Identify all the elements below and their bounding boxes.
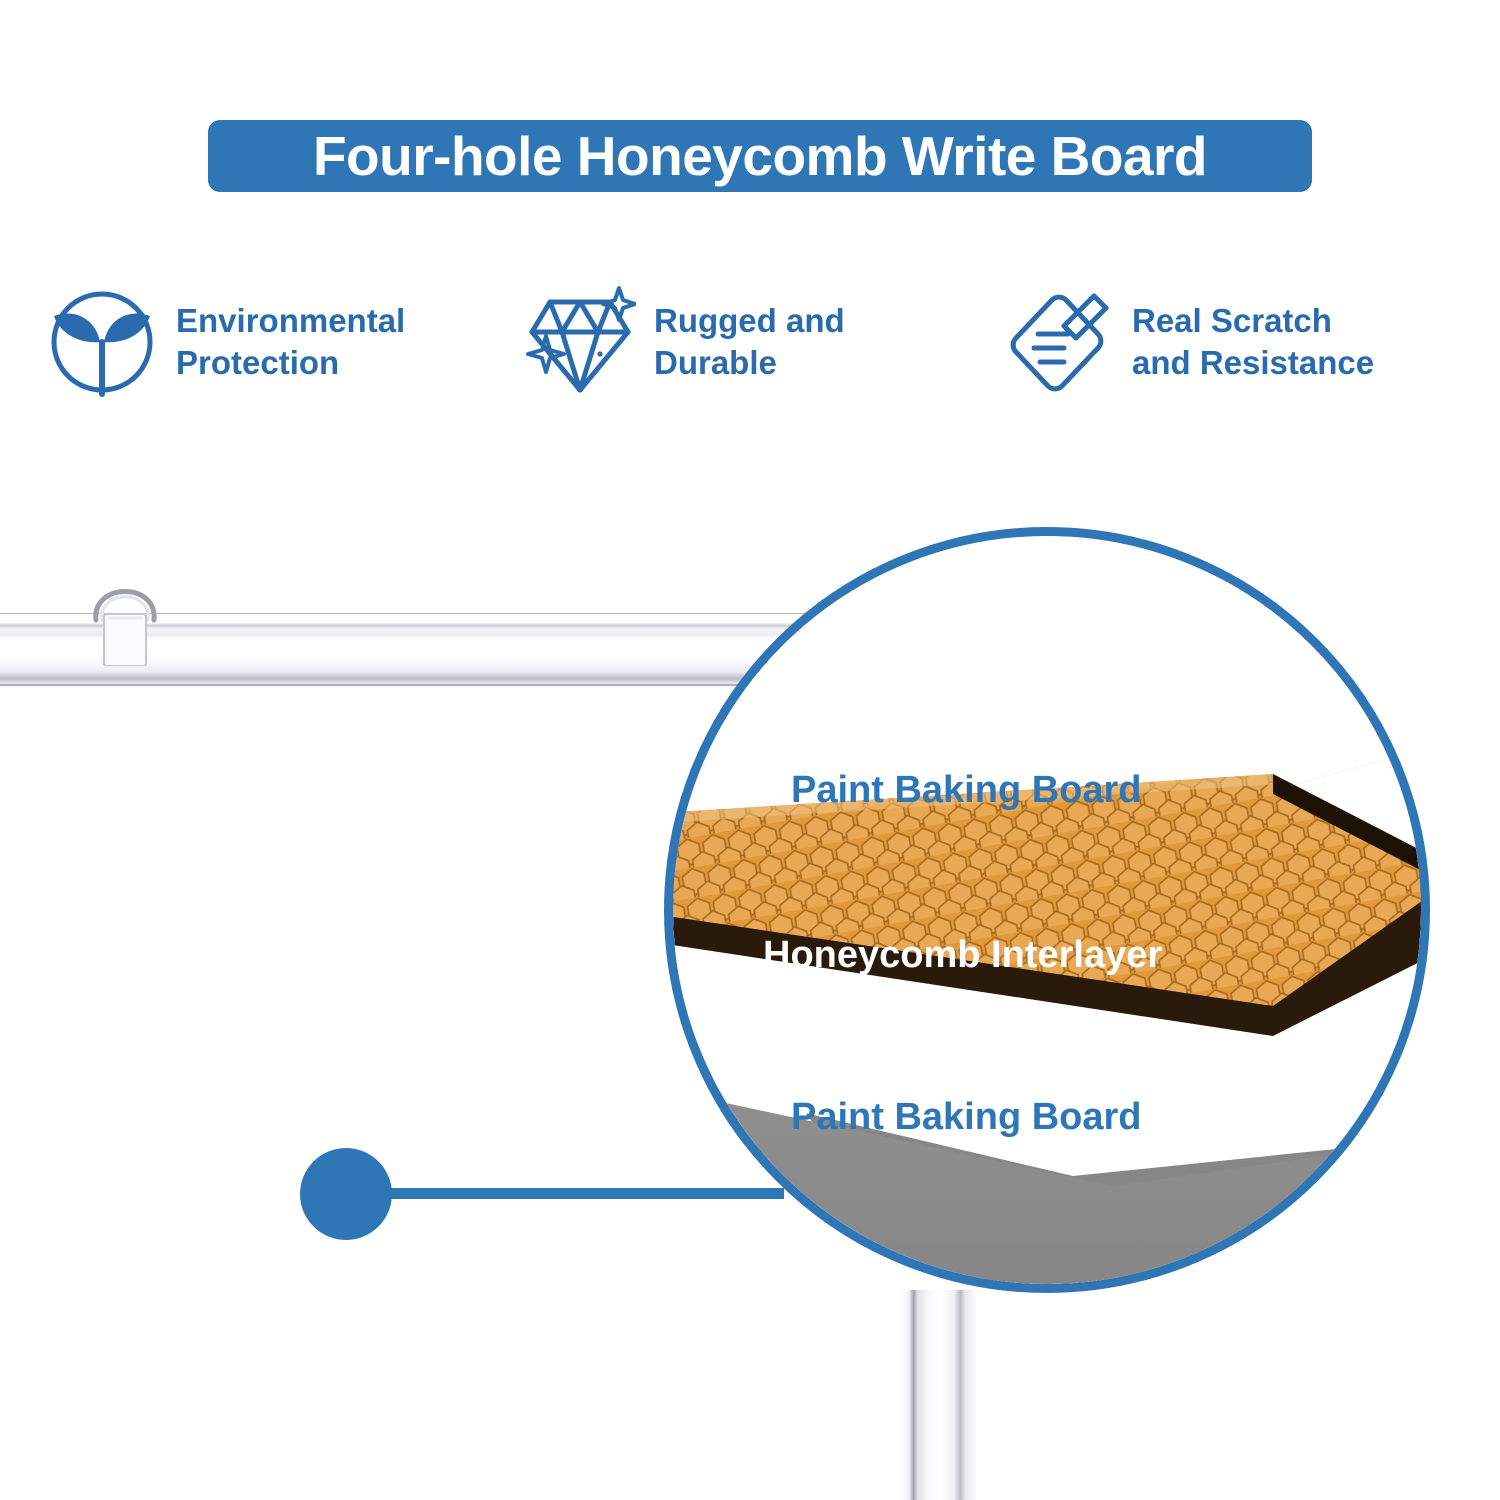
feature-label-environmental: Environmental Protection	[176, 300, 405, 384]
feature-item-scratch: Real Scratch and Resistance	[1002, 282, 1374, 402]
feature-label-rugged: Rugged and Durable	[654, 300, 845, 384]
feature-item-environmental: Environmental Protection	[46, 282, 405, 402]
layer-label-top-board: Paint Baking Board	[791, 771, 1142, 809]
callout-leader-line	[384, 1188, 784, 1199]
pen-writing-card-icon	[1002, 282, 1114, 402]
layer-label-interlayer: Honeycomb Interlayer	[763, 936, 1162, 974]
diamond-sparkle-icon	[524, 282, 636, 402]
feature-item-rugged: Rugged and Durable	[524, 282, 845, 402]
magnifier-callout-circle: Paint Baking Board Honeycomb Interlayer …	[664, 527, 1430, 1293]
page-title: Four-hole Honeycomb Write Board	[313, 129, 1207, 184]
title-banner: Four-hole Honeycomb Write Board	[208, 120, 1312, 192]
infographic-canvas: Four-hole Honeycomb Write Board Environm…	[0, 0, 1500, 1500]
feature-row: Environmental Protection Rugged and Dura…	[0, 278, 1500, 418]
magnifier-content: Paint Baking Board Honeycomb Interlayer …	[673, 536, 1421, 1284]
honeycomb-cross-section-diagram	[673, 536, 1421, 1284]
d-ring-hanger	[82, 556, 168, 666]
stand-pole	[898, 1290, 976, 1500]
callout-dot	[300, 1148, 392, 1240]
eco-leaf-circle-icon	[46, 282, 158, 402]
feature-label-scratch: Real Scratch and Resistance	[1132, 300, 1374, 384]
layer-label-bottom-board: Paint Baking Board	[791, 1098, 1142, 1136]
